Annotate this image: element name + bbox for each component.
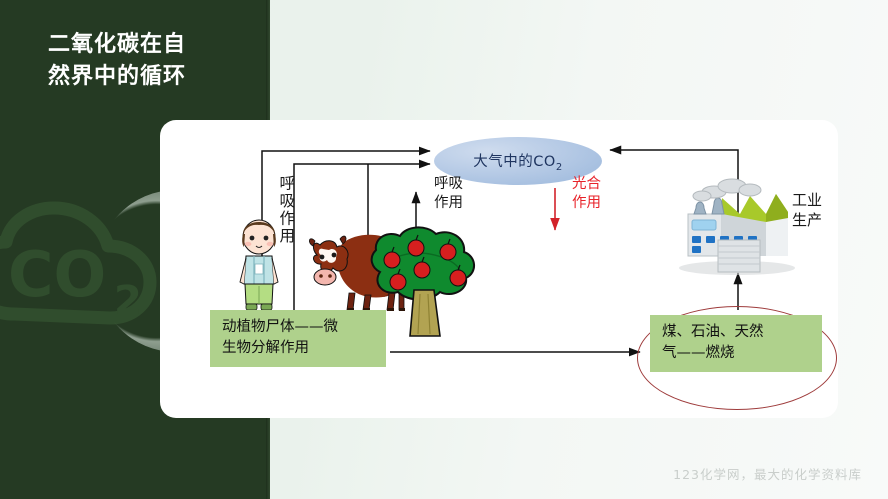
decomposition-box: 动植物尸体——微 生物分解作用 [210, 310, 386, 367]
fossil-fuel-box: 煤、石油、天然 气——燃烧 [650, 315, 822, 372]
svg-text:2: 2 [114, 278, 142, 324]
factory-figure [670, 168, 804, 276]
photosynthesis-label: 光合 作用 [572, 175, 601, 213]
diagram-card: 大气中的CO2 呼吸作用 呼吸 作用 光合 作用 工业 生产 [160, 120, 838, 418]
slide-root: CO 2 二氧化碳在自 然界中的循环 [0, 0, 888, 499]
page-title: 二氧化碳在自 然界中的循环 [48, 28, 186, 92]
boy-figure [236, 212, 282, 312]
svg-text:CO: CO [8, 238, 106, 311]
atmosphere-co2-label: 大气中的CO2 [473, 150, 562, 173]
respiration-label-middle: 呼吸 作用 [434, 175, 463, 213]
footer-watermark: 123化学网，最大的化学资料库 [673, 464, 862, 483]
